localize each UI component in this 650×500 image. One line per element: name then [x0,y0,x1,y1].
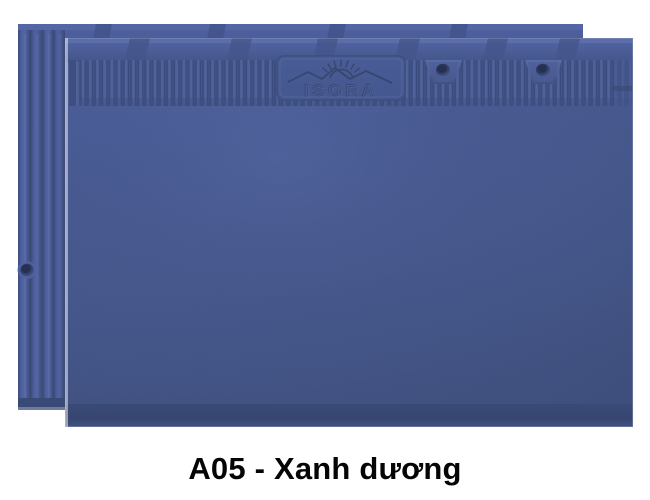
tile-bottom-lip [65,405,633,427]
product-caption: A05 - Xanh dương [0,437,650,500]
brand-logo-plate: ISORA ISORA [277,56,405,101]
product-figure: ISORA ISORA [0,0,650,500]
front-roof-tile: ISORA ISORA [65,38,633,427]
nail-hole [18,261,37,279]
roof-tile-illustration: ISORA ISORA [0,0,650,436]
brand-wordmark-highlight: ISORA [305,82,379,101]
tile-image-stage: ISORA ISORA [0,0,650,436]
